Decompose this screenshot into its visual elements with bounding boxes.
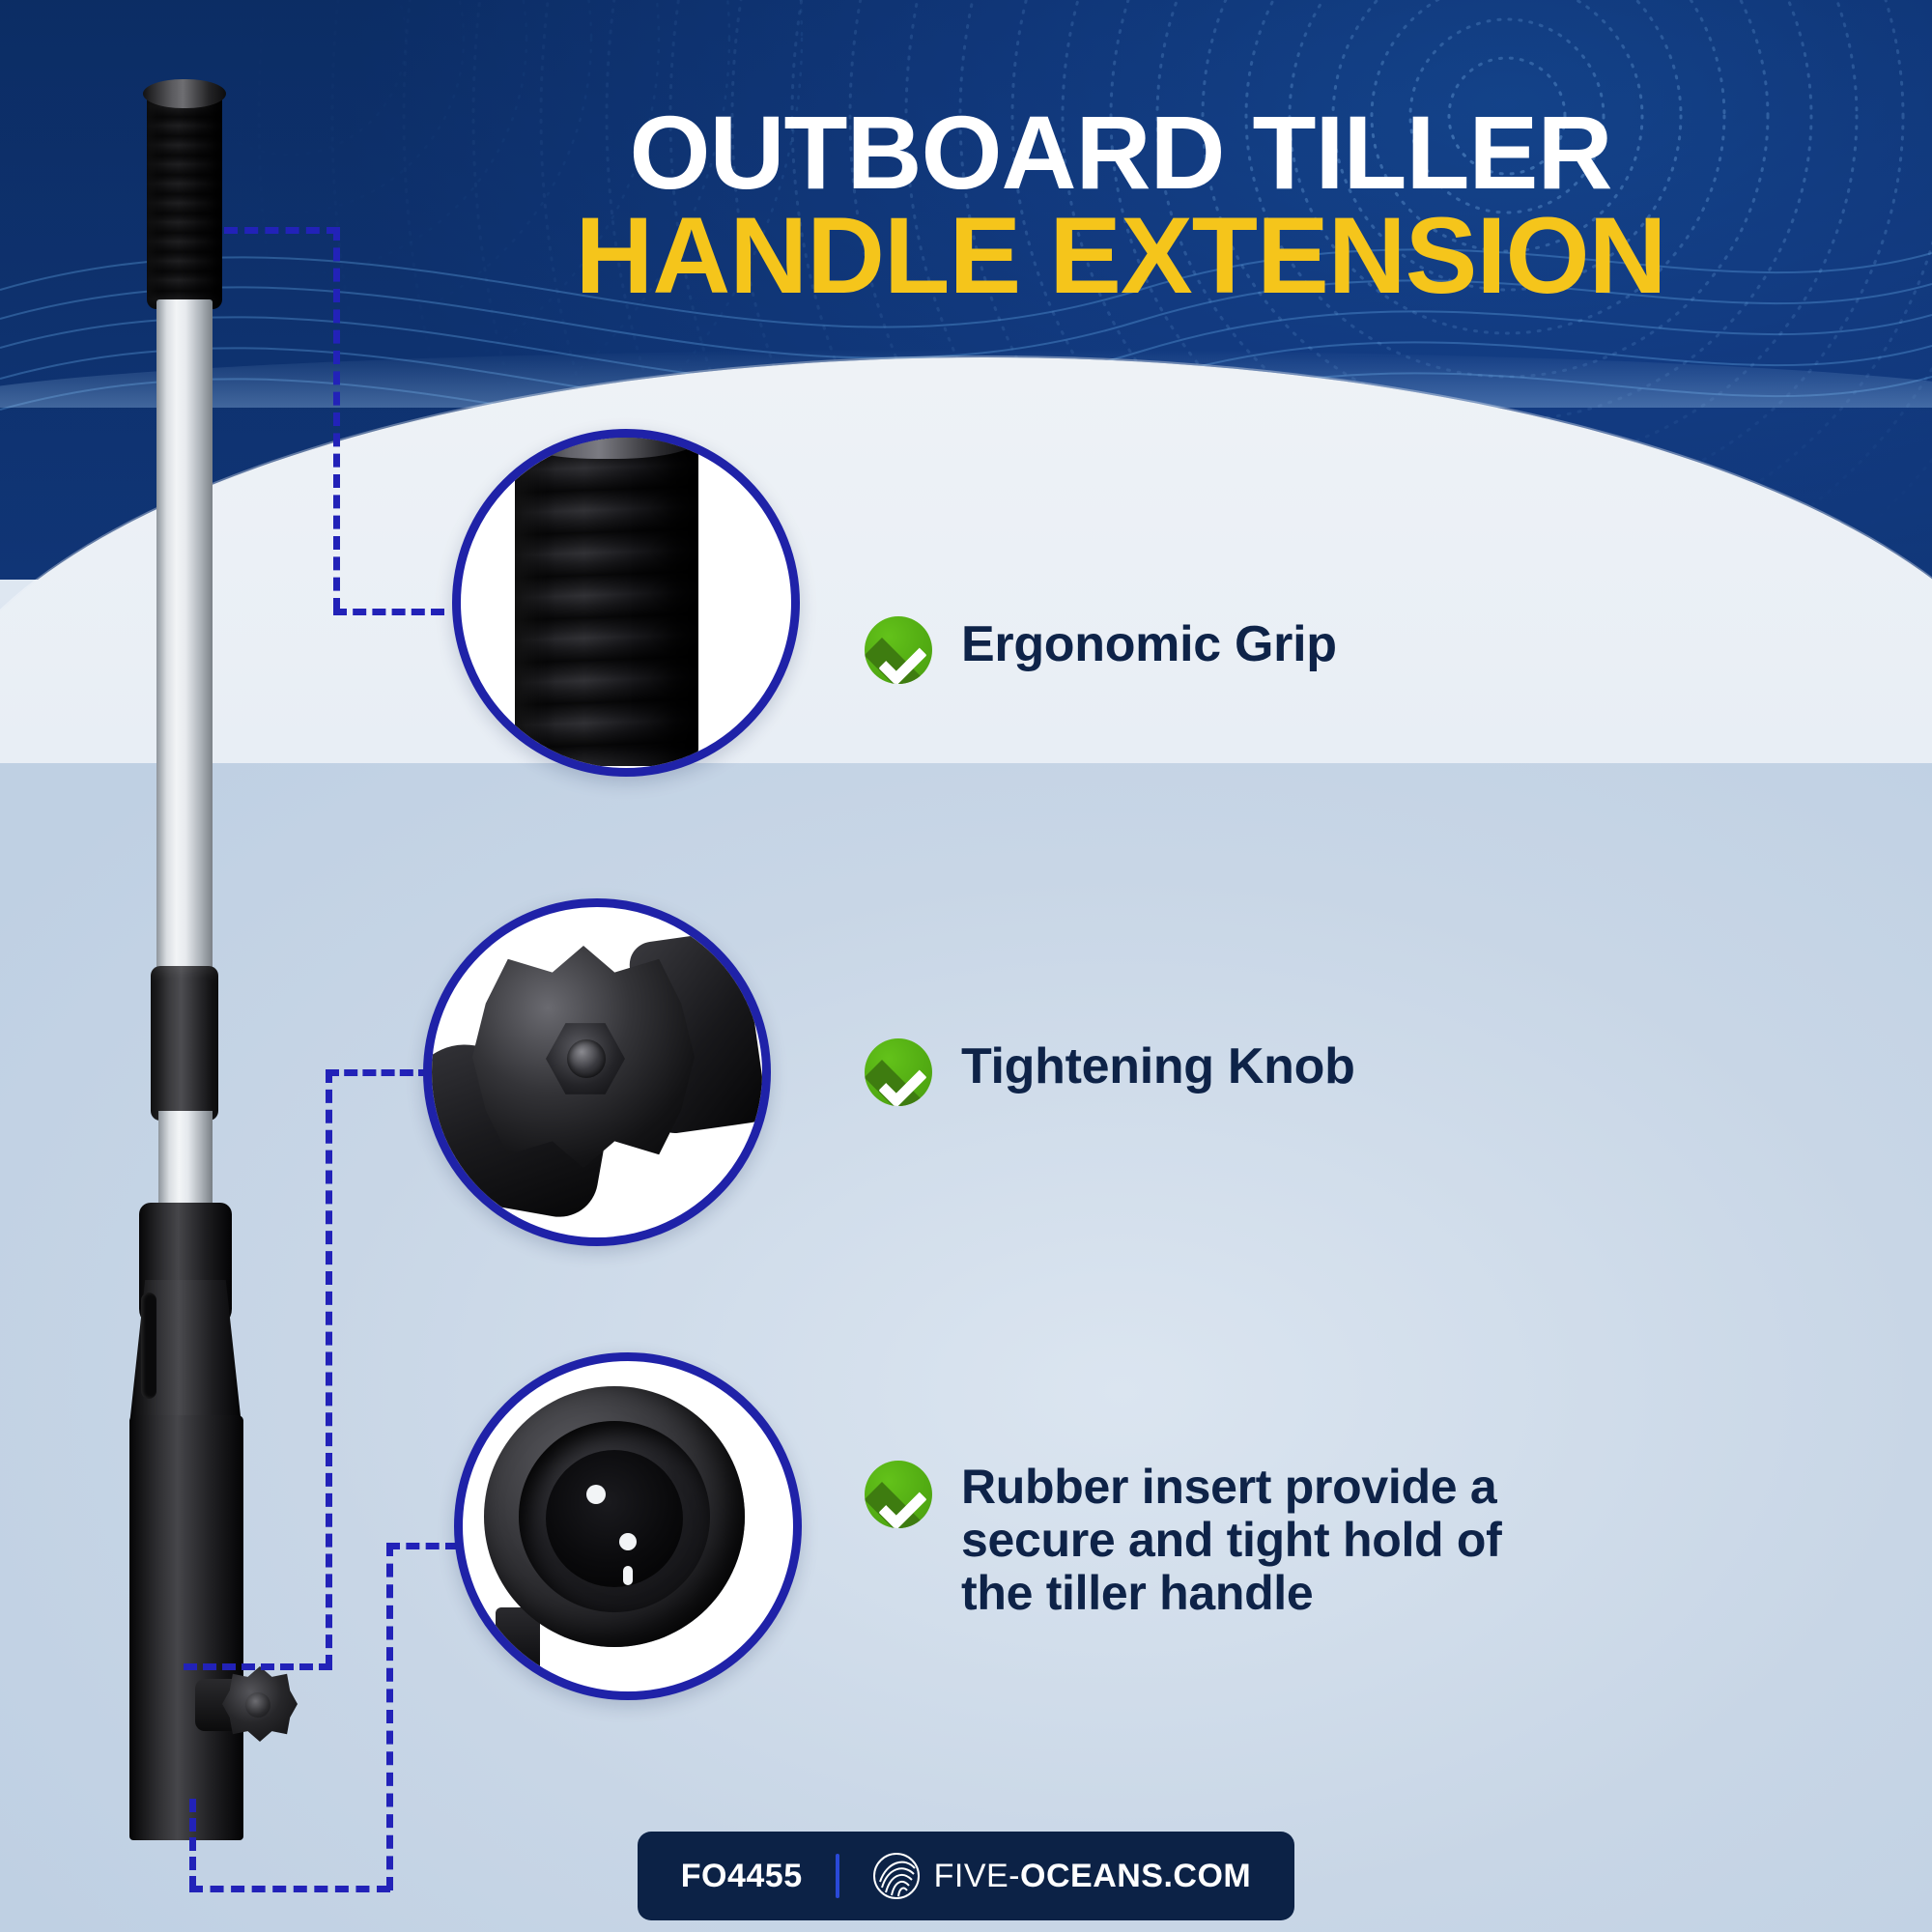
callout-circle-rubber-insert bbox=[454, 1352, 802, 1700]
grip-closeup-photo bbox=[461, 438, 791, 768]
callout-line-3-vertical bbox=[386, 1543, 393, 1890]
footer-bar: FO4455 FIVE-OCEANS.COM bbox=[638, 1832, 1294, 1920]
grip-closeup-ribs bbox=[515, 429, 698, 766]
sku-label: FO4455 bbox=[681, 1858, 803, 1895]
insert-highlight-1 bbox=[586, 1485, 606, 1504]
product-barrel bbox=[129, 1415, 243, 1840]
callout-line-1-horizontal-top bbox=[224, 227, 340, 234]
product-locking-collar bbox=[151, 966, 218, 1121]
brand-text-light: FIVE- bbox=[934, 1858, 1020, 1894]
shell-logo-icon bbox=[872, 1852, 921, 1900]
insert-closeup-photo bbox=[463, 1361, 793, 1691]
callout-line-1-vertical bbox=[333, 227, 340, 611]
knob-closeup-photo bbox=[432, 907, 762, 1237]
footer-divider bbox=[836, 1854, 839, 1898]
green-check-icon bbox=[865, 1461, 932, 1528]
product-image bbox=[87, 68, 406, 1835]
feature-row-1: Ergonomic Grip bbox=[865, 616, 1337, 684]
insert-highlight-3 bbox=[623, 1566, 633, 1585]
callout-line-2-horizontal-top bbox=[326, 1069, 432, 1076]
feature-row-3: Rubber insert provide a secure and tight… bbox=[865, 1461, 1579, 1620]
page-title: OUTBOARD TILLER HANDLE EXTENSION bbox=[386, 104, 1855, 305]
green-check-icon bbox=[865, 1038, 932, 1106]
product-lower-tube bbox=[158, 1111, 213, 1217]
product-grip-cap bbox=[143, 79, 226, 108]
product-socket-slot bbox=[141, 1293, 156, 1399]
feature-row-2: Tightening Knob bbox=[865, 1038, 1355, 1106]
infographic-canvas: OUTBOARD TILLER HANDLE EXTENSION bbox=[0, 0, 1932, 1932]
brand-text: FIVE-OCEANS.COM bbox=[934, 1858, 1252, 1895]
brand-text-bold: OCEANS.COM bbox=[1020, 1858, 1251, 1894]
brand-block[interactable]: FIVE-OCEANS.COM bbox=[872, 1852, 1252, 1900]
title-line-1: OUTBOARD TILLER bbox=[386, 104, 1855, 200]
callout-line-2-vertical bbox=[326, 1069, 332, 1668]
insert-closeup-core bbox=[546, 1450, 683, 1587]
product-upper-tube bbox=[156, 299, 213, 976]
feature-label-1: Ergonomic Grip bbox=[961, 616, 1337, 672]
knob-closeup-bolt bbox=[567, 1039, 606, 1078]
insert-highlight-2 bbox=[619, 1533, 637, 1550]
feature-label-3: Rubber insert provide a secure and tight… bbox=[961, 1461, 1579, 1620]
product-knob-hub bbox=[245, 1692, 270, 1718]
callout-line-3-horizontal-bottom bbox=[189, 1886, 390, 1892]
callout-line-1-horizontal-bottom bbox=[333, 609, 444, 615]
callout-line-3-vertical-left bbox=[189, 1799, 196, 1889]
product-ribbed-grip bbox=[147, 87, 222, 309]
feature-label-2: Tightening Knob bbox=[961, 1038, 1355, 1094]
callout-line-2-horizontal-bottom bbox=[184, 1663, 332, 1670]
callout-circle-knob bbox=[423, 898, 771, 1246]
green-check-icon bbox=[865, 616, 932, 684]
callout-line-3-horizontal-top bbox=[386, 1543, 459, 1549]
callout-circle-grip bbox=[452, 429, 800, 777]
title-line-2: HANDLE EXTENSION bbox=[386, 206, 1855, 305]
